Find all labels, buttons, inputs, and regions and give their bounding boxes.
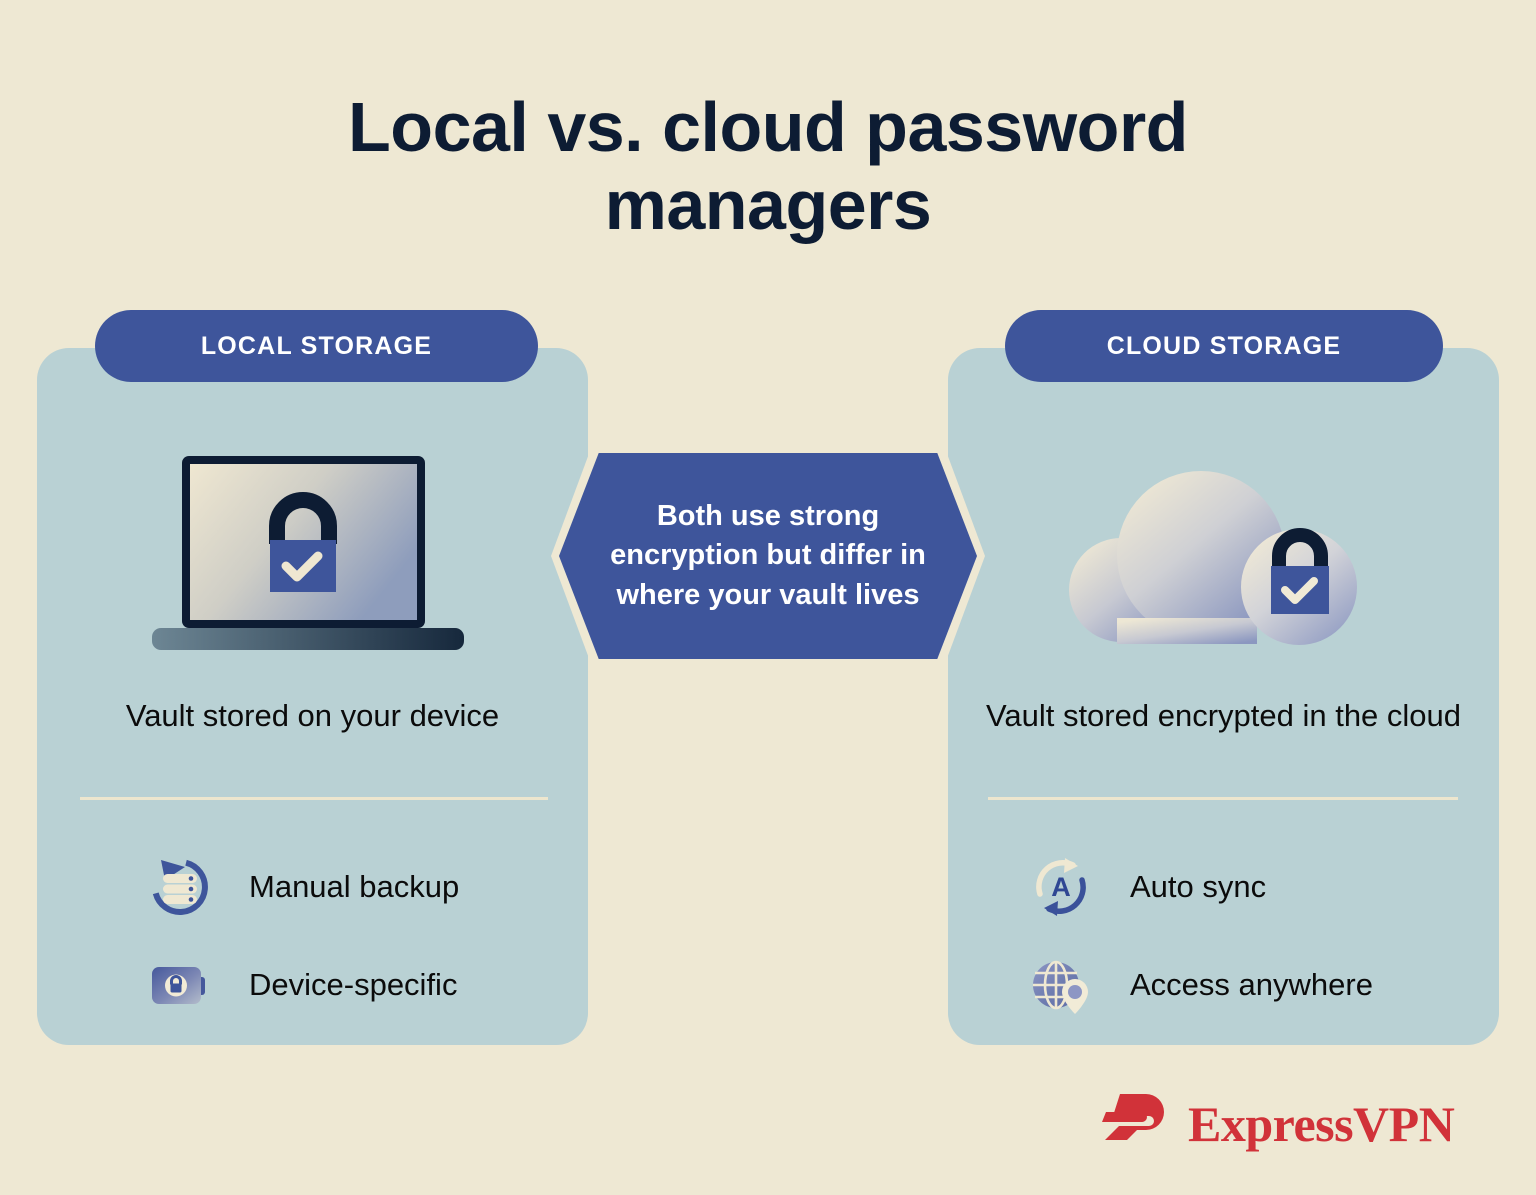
pill-local-storage: LOCAL STORAGE	[95, 310, 538, 382]
feature-auto-sync: A Auto sync	[948, 838, 1499, 936]
cloud-with-padlock-icon	[1059, 450, 1389, 660]
globe-pin-icon	[1026, 950, 1096, 1020]
feature-label: Manual backup	[249, 869, 459, 905]
pill-cloud-storage: CLOUD STORAGE	[1005, 310, 1443, 382]
expressvpn-wordmark: ExpressVPN	[1188, 1095, 1454, 1153]
auto-sync-icon: A	[1026, 852, 1096, 922]
feature-manual-backup: Manual backup	[37, 838, 588, 936]
divider-local	[80, 797, 548, 800]
callout-text: Both use strong encryption but differ in…	[559, 497, 977, 615]
center-callout: Both use strong encryption but differ in…	[551, 445, 985, 667]
callout-body: Both use strong encryption but differ in…	[559, 453, 977, 659]
infographic-canvas: Local vs. cloud password managers LOCAL …	[0, 0, 1536, 1195]
feature-device-specific: Device-specific	[37, 936, 588, 1034]
caption-cloud: Vault stored encrypted in the cloud	[948, 696, 1499, 737]
caption-local: Vault stored on your device	[37, 696, 588, 737]
feature-label: Auto sync	[1130, 869, 1266, 905]
svg-text:A: A	[1051, 872, 1071, 902]
pill-cloud-storage-label: CLOUD STORAGE	[1107, 332, 1342, 361]
expressvpn-logo: ExpressVPN	[1096, 1090, 1454, 1157]
backup-restore-icon	[145, 852, 215, 922]
illustration-local	[37, 440, 588, 670]
feature-list-cloud: A Auto sync	[948, 838, 1499, 1034]
device-lock-icon	[145, 950, 215, 1020]
feature-list-local: Manual backup	[37, 838, 588, 1034]
expressvpn-mark-icon	[1096, 1090, 1170, 1157]
feature-access-anywhere: Access anywhere	[948, 936, 1499, 1034]
feature-label: Device-specific	[249, 967, 457, 1003]
laptop-with-padlock-icon	[138, 450, 488, 660]
divider-cloud	[988, 797, 1458, 800]
page-title: Local vs. cloud password managers	[0, 88, 1536, 245]
illustration-cloud	[948, 440, 1499, 670]
pill-local-storage-label: LOCAL STORAGE	[201, 332, 432, 361]
feature-label: Access anywhere	[1130, 967, 1373, 1003]
